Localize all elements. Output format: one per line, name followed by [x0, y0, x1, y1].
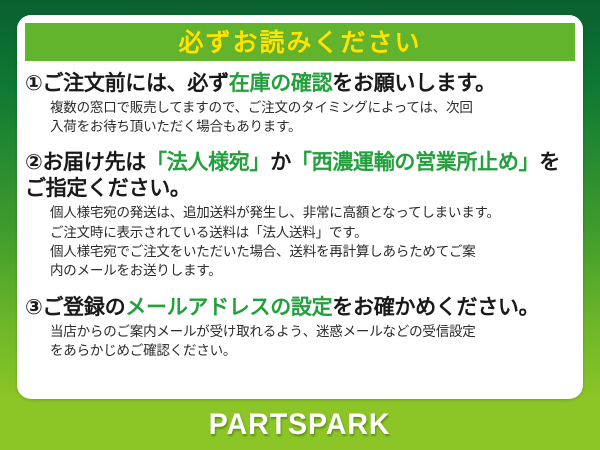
title-banner: 必ずお読みください	[25, 23, 575, 61]
notice-card: 必ずお読みください ①ご注文前には、必ず在庫の確認をお願いします。 複数の窓口で…	[17, 15, 583, 399]
notice-item-2-detail-line-3: 個人様宅宛でご注文をいただいた場合、送料を再計算しあらためてご案	[50, 243, 577, 262]
notice-item-3-part-1: ご登録の	[42, 295, 125, 319]
notice-item-2-headline: ②お届け先は「法人様宛」か「西濃運輸の営業所止め」をご指定ください。	[23, 149, 577, 201]
partspark-logo: PARTSPARK	[209, 408, 391, 442]
notice-item-3-highlight: メールアドレスの設定	[125, 295, 332, 319]
banner-title: 必ずお読みください	[178, 30, 421, 55]
notice-item-1-part-3: をお願いします。	[332, 71, 496, 95]
notice-item-2-part-3: か	[270, 150, 291, 174]
notice-item-3-part-3: をお確かめください。	[332, 295, 539, 319]
notice-item-1-headline: ①ご注文前には、必ず在庫の確認をお願いします。	[23, 70, 577, 96]
notice-item-2-detail-line-2: ご注文時に表示されている送料は「法人送料」です。	[50, 224, 577, 243]
notice-item-3-detail-line-2: をあらかじめご確認ください。	[50, 342, 577, 361]
notice-item-2-detail: 個人様宅宛の発送は、追加送料が発生し、非常に高額となってしまいます。 ご注文時に…	[23, 204, 577, 281]
notice-item-3-detail-line-1: 当店からのご案内メールが受け取れるよう、迷惑メールなどの受信設定	[50, 323, 577, 342]
notice-item-3-number: ③	[25, 295, 42, 319]
notice-item-2: ②お届け先は「法人様宛」か「西濃運輸の営業所止め」をご指定ください。 個人様宅宛…	[17, 149, 583, 281]
notice-item-1-detail-line-1: 複数の窓口で販売してますので、ご注文のタイミングによっては、次回	[50, 99, 577, 118]
notice-item-1-highlight: 在庫の確認	[229, 71, 333, 95]
notice-item-1: ①ご注文前には、必ず在庫の確認をお願いします。 複数の窓口で販売してますので、ご…	[17, 70, 583, 137]
notice-item-1-part-1: ご注文前には、必ず	[42, 71, 228, 95]
notice-item-2-part-1: お届け先は	[42, 150, 146, 174]
notice-item-1-number: ①	[25, 71, 42, 95]
notice-item-2-number: ②	[25, 150, 42, 174]
notice-item-3-detail: 当店からのご案内メールが受け取れるよう、迷惑メールなどの受信設定 をあらかじめご…	[23, 323, 577, 361]
notice-item-2-highlight-2: 「西濃運輸の営業所止め」	[291, 150, 539, 174]
notice-item-2-detail-line-1: 個人様宅宛の発送は、追加送料が発生し、非常に高額となってしまいます。	[50, 204, 577, 223]
notice-item-3: ③ご登録のメールアドレスの設定をお確かめください。 当店からのご案内メールが受け…	[17, 294, 583, 361]
notice-item-2-detail-line-4: 内のメールをお送りします。	[50, 262, 577, 281]
notice-item-1-detail: 複数の窓口で販売してますので、ご注文のタイミングによっては、次回 入荷をお待ち頂…	[23, 99, 577, 137]
notice-poster: 必ずお読みください ①ご注文前には、必ず在庫の確認をお願いします。 複数の窓口で…	[0, 0, 600, 450]
notice-item-3-headline: ③ご登録のメールアドレスの設定をお確かめください。	[23, 294, 577, 320]
footer-logo-bar: PARTSPARK	[0, 400, 600, 450]
notice-item-1-detail-line-2: 入荷をお待ち頂いただく場合もあります。	[50, 118, 577, 137]
notice-item-2-highlight-1: 「法人様宛」	[146, 150, 270, 174]
notice-sections: ①ご注文前には、必ず在庫の確認をお願いします。 複数の窓口で販売してますので、ご…	[17, 67, 583, 361]
